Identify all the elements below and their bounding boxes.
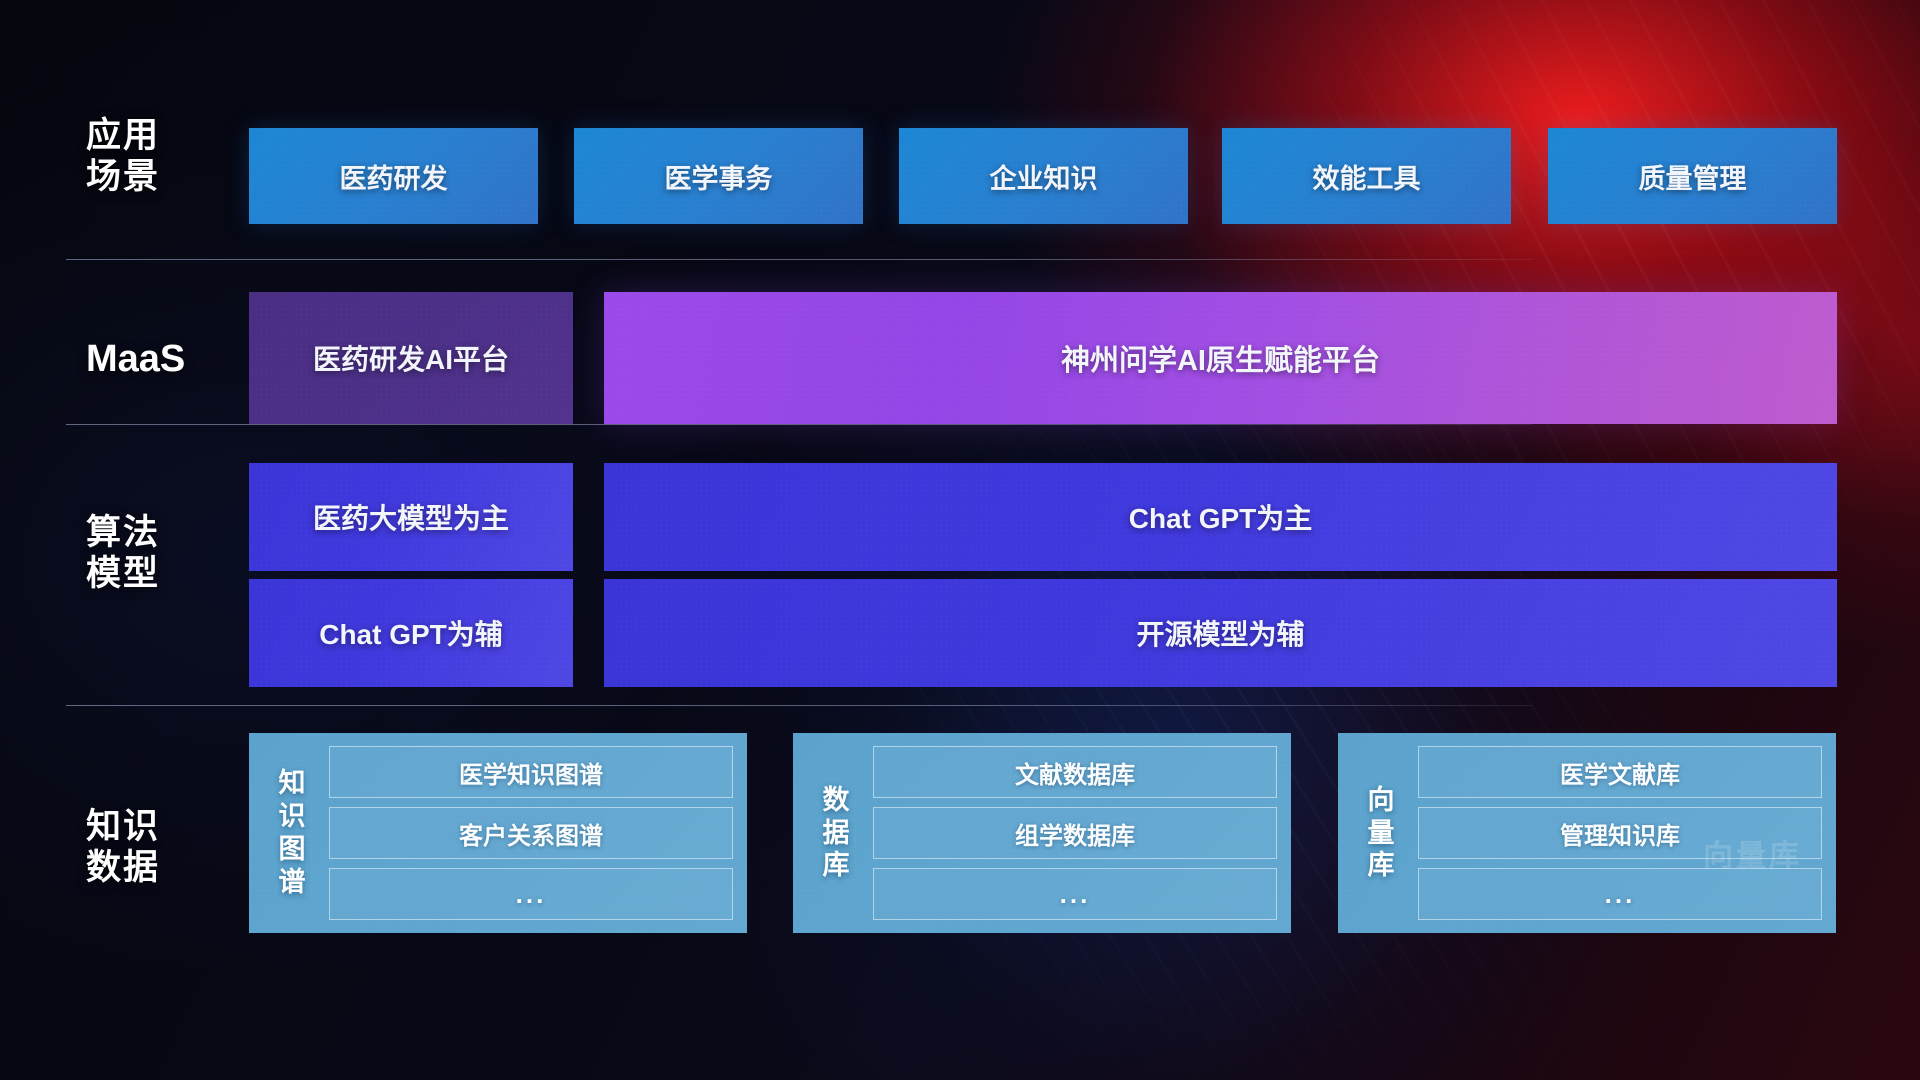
knowledge-card-3-item-1[interactable]: 医学文献库 — [1418, 746, 1822, 798]
app-scenario-label-4: 效能工具 — [1313, 157, 1421, 196]
knowledge-card-database[interactable]: 数 据 库 文献数据库 组学数据库 ... — [793, 733, 1291, 933]
row-label-maas-line1: MaaS — [86, 337, 216, 382]
knowledge-card-2-item-1-label: 文献数据库 — [1015, 755, 1135, 790]
diagram-canvas: 应用 场景 医药研发 医学事务 企业知识 效能工具 质量管理 MaaS 医药研发… — [0, 0, 1920, 1080]
knowledge-card-2-item-1[interactable]: 文献数据库 — [873, 746, 1277, 798]
knowledge-card-2-item-2[interactable]: 组学数据库 — [873, 807, 1277, 859]
algorithm-label-row1-right: Chat GPT为主 — [1129, 497, 1313, 537]
knowledge-card-1-item-3-label: ... — [516, 879, 547, 910]
row-label-application: 应用 场景 — [86, 115, 216, 198]
app-scenario-box-4[interactable]: 效能工具 — [1222, 128, 1511, 224]
app-scenario-label-1: 医药研发 — [340, 157, 448, 196]
knowledge-card-1-item-1[interactable]: 医学知识图谱 — [329, 746, 733, 798]
algorithm-box-row2-left[interactable]: Chat GPT为辅 — [249, 579, 573, 687]
app-scenario-box-1[interactable]: 医药研发 — [249, 128, 538, 224]
knowledge-card-1-label-char-1: 知 — [279, 767, 306, 800]
knowledge-card-3-items: 医学文献库 管理知识库 ... — [1412, 746, 1822, 920]
knowledge-card-1-item-2-label: 客户关系图谱 — [459, 816, 603, 851]
app-scenario-box-5[interactable]: 质量管理 — [1548, 128, 1837, 224]
row-label-application-line1: 应用 — [86, 115, 216, 156]
knowledge-card-2-label-char-1: 数 — [823, 784, 850, 817]
knowledge-card-1-item-3[interactable]: ... — [329, 868, 733, 920]
knowledge-card-3-item-3-label: ... — [1605, 879, 1636, 910]
row-label-algorithm-line2: 模型 — [86, 553, 216, 594]
knowledge-card-2-label-char-2: 据 — [823, 817, 850, 850]
algorithm-label-row1-left: 医药大模型为主 — [313, 497, 509, 537]
knowledge-card-2-item-3-label: ... — [1060, 879, 1091, 910]
divider-application-maas — [66, 259, 1532, 260]
knowledge-card-knowledge-graph[interactable]: 知 识 图 谱 医学知识图谱 客户关系图谱 ... — [249, 733, 747, 933]
knowledge-card-1-item-2[interactable]: 客户关系图谱 — [329, 807, 733, 859]
knowledge-card-vector-store[interactable]: 向 量 库 医学文献库 管理知识库 ... 向量库 — [1338, 733, 1836, 933]
app-scenario-label-5: 质量管理 — [1639, 157, 1747, 196]
knowledge-card-2-items: 文献数据库 组学数据库 ... — [867, 746, 1277, 920]
maas-platform-box-left[interactable]: 医药研发AI平台 — [249, 292, 573, 424]
knowledge-card-3-item-3[interactable]: ... — [1418, 868, 1822, 920]
knowledge-card-1-label-char-4: 谱 — [279, 866, 306, 899]
row-label-maas: MaaS — [86, 337, 216, 382]
knowledge-card-3-item-2[interactable]: 管理知识库 — [1418, 807, 1822, 859]
algorithm-box-row2-right[interactable]: 开源模型为辅 — [604, 579, 1837, 687]
maas-platform-label-left: 医药研发AI平台 — [313, 338, 509, 378]
row-label-knowledge: 知识 数据 — [86, 806, 216, 889]
row-label-algorithm: 算法 模型 — [86, 512, 216, 595]
knowledge-card-2-item-2-label: 组学数据库 — [1015, 816, 1135, 851]
algorithm-box-row1-left[interactable]: 医药大模型为主 — [249, 463, 573, 571]
knowledge-card-3-label-char-1: 向 — [1368, 784, 1395, 817]
app-scenario-box-3[interactable]: 企业知识 — [899, 128, 1188, 224]
maas-platform-label-right: 神州问学AI原生赋能平台 — [1061, 337, 1380, 379]
algorithm-label-row2-left: Chat GPT为辅 — [319, 613, 503, 653]
knowledge-card-1-label-char-2: 识 — [279, 800, 306, 833]
row-label-knowledge-line2: 数据 — [86, 847, 216, 888]
app-scenario-label-3: 企业知识 — [990, 157, 1098, 196]
row-label-algorithm-line1: 算法 — [86, 512, 216, 553]
divider-maas-algorithm — [66, 424, 1532, 425]
maas-platform-box-right[interactable]: 神州问学AI原生赋能平台 — [604, 292, 1837, 424]
knowledge-card-3-item-1-label: 医学文献库 — [1560, 755, 1680, 790]
knowledge-card-3-item-2-label: 管理知识库 — [1560, 816, 1680, 851]
divider-algorithm-knowledge — [66, 705, 1532, 706]
app-scenario-label-2: 医学事务 — [665, 157, 773, 196]
knowledge-card-3-label-char-3: 库 — [1368, 849, 1395, 882]
knowledge-card-1-items: 医学知识图谱 客户关系图谱 ... — [323, 746, 733, 920]
app-scenario-box-2[interactable]: 医学事务 — [574, 128, 863, 224]
knowledge-card-1-vertical-label: 知 识 图 谱 — [261, 746, 323, 920]
algorithm-label-row2-right: 开源模型为辅 — [1136, 613, 1304, 653]
knowledge-card-3-label-char-2: 量 — [1368, 817, 1395, 850]
knowledge-card-2-item-3[interactable]: ... — [873, 868, 1277, 920]
knowledge-card-1-item-1-label: 医学知识图谱 — [459, 755, 603, 790]
algorithm-box-row1-right[interactable]: Chat GPT为主 — [604, 463, 1837, 571]
knowledge-card-2-vertical-label: 数 据 库 — [805, 746, 867, 920]
knowledge-card-3-vertical-label: 向 量 库 — [1350, 746, 1412, 920]
row-label-knowledge-line1: 知识 — [86, 806, 216, 847]
row-label-application-line2: 场景 — [86, 156, 216, 197]
knowledge-card-2-label-char-3: 库 — [823, 849, 850, 882]
knowledge-card-1-label-char-3: 图 — [279, 833, 306, 866]
